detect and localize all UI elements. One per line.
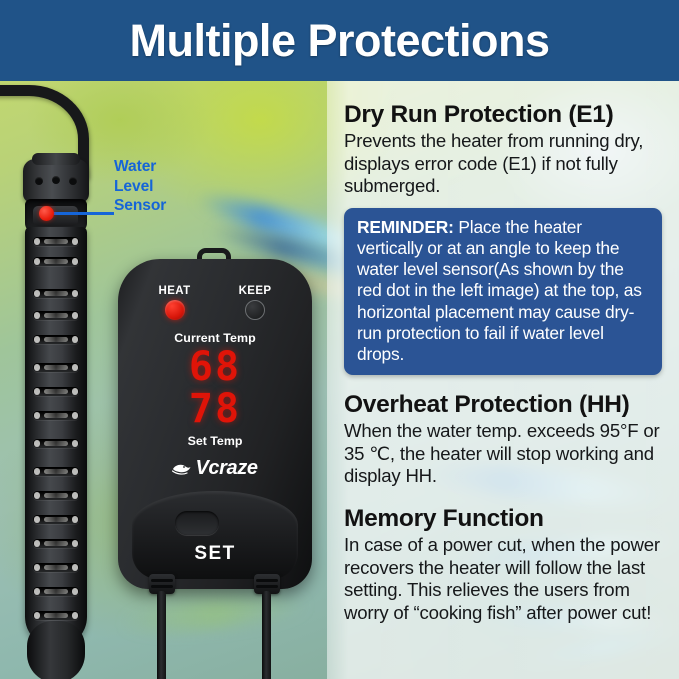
heater-guard-slot [33, 439, 79, 448]
heater-guard-slot [33, 237, 79, 246]
set-temp-label: Set Temp [118, 434, 312, 448]
button-bezel [132, 491, 298, 579]
keep-indicator: KEEP [239, 285, 272, 320]
heater-guard-slot [33, 411, 79, 420]
led-display: 68 78 [118, 348, 312, 429]
product-photo-area: Water Level Sensor HEAT KEEP Current Tem… [0, 81, 327, 679]
section-body-memory: In case of a power cut, when the power r… [344, 534, 662, 624]
reminder-body: Place the heater vertically or at an ang… [357, 217, 642, 364]
sensor-cable [157, 591, 166, 679]
reminder-prefix: REMINDER: [357, 217, 454, 237]
heater-guard-slot [33, 515, 79, 524]
heater-barrel [25, 227, 87, 647]
callout-line-1: Water [114, 157, 166, 177]
infographic-canvas: Multiple Protections Water Level Sensor … [0, 0, 679, 679]
fish-wave-icon [172, 462, 191, 476]
brand-name: Vcraze [195, 457, 257, 480]
section-title-overheat: Overheat Protection (HH) [344, 390, 662, 419]
keep-led-icon [245, 300, 265, 320]
heater-bottom-tip [27, 621, 85, 679]
brand-logo: Vcraze [118, 457, 312, 480]
heater-guard-slot [33, 257, 79, 266]
set-temp-value: 78 [118, 390, 312, 429]
heater-guard-slot [33, 467, 79, 476]
water-level-sensor-callout: Water Level Sensor [114, 157, 166, 216]
reminder-callout-box: REMINDER: Place the heater vertically or… [344, 208, 662, 375]
reminder-text: REMINDER: Place the heater vertically or… [357, 217, 650, 365]
keep-label: KEEP [239, 285, 272, 297]
current-temp-label: Current Temp [118, 331, 312, 345]
vent-hole-icon [35, 177, 43, 185]
set-button-label: SET [118, 543, 312, 565]
header-banner: Multiple Protections [0, 0, 679, 81]
heater-guard-slot [33, 289, 79, 298]
heater-cable [262, 591, 271, 679]
water-level-sensor-dot-icon [39, 206, 54, 221]
heater-guard-slot [33, 587, 79, 596]
section-body-dry-run: Prevents the heater from running dry, di… [344, 130, 662, 198]
section-body-overheat: When the water temp. exceeds 95°F or 35 … [344, 420, 662, 488]
callout-line-3: Sensor [114, 196, 166, 216]
heater-guard-slot [33, 563, 79, 572]
section-title-memory: Memory Function [344, 504, 662, 533]
heater-top-cap [23, 159, 89, 203]
section-title-dry-run: Dry Run Protection (E1) [344, 100, 662, 129]
callout-leader-line [52, 212, 114, 215]
heater-guard-slot [33, 311, 79, 320]
heater-guard-slot [33, 387, 79, 396]
heat-led-icon [165, 300, 185, 320]
vent-hole-icon [52, 176, 60, 184]
spacer [344, 375, 662, 390]
heater-guard-slot [33, 611, 79, 620]
heater-guard-slot [33, 335, 79, 344]
vent-hole-icon [69, 177, 77, 185]
spacer [344, 488, 662, 504]
heater-guard-slot [33, 491, 79, 500]
heat-indicator: HEAT [159, 285, 191, 320]
set-button[interactable] [175, 511, 219, 535]
heater-guard-slot [33, 539, 79, 548]
callout-line-2: Level [114, 177, 166, 197]
heater-guard-slot [33, 363, 79, 372]
current-temp-value: 68 [189, 344, 241, 390]
heat-label: HEAT [159, 285, 191, 297]
page-title: Multiple Protections [129, 18, 549, 63]
temperature-controller: HEAT KEEP Current Temp 68 78 Set Temp [118, 259, 312, 589]
features-panel: Dry Run Protection (E1) Prevents the hea… [327, 81, 679, 679]
indicator-row: HEAT KEEP [118, 285, 312, 320]
